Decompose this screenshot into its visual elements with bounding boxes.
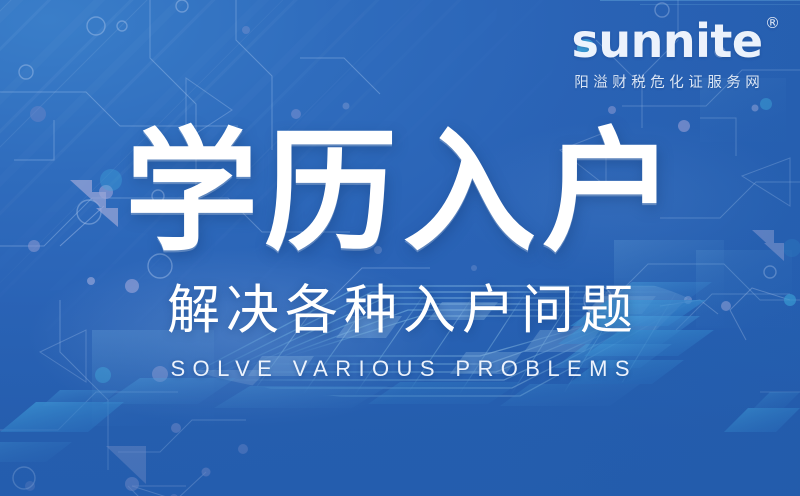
accent-triangle-bottom-left xyxy=(106,446,146,484)
registered-trademark-icon: ® xyxy=(765,16,780,31)
page-tagline: SOLVE VARIOUS PROBLEMS xyxy=(0,356,800,382)
brand-logo[interactable]: sunnite ® 阳溢财税危化证服务网 xyxy=(552,18,782,92)
promo-banner: sunnite ® 阳溢财税危化证服务网 学历入户 解决各种入户问题 SOLVE… xyxy=(0,0,800,496)
logo-wordmark: sunnite ® xyxy=(571,18,762,64)
page-title: 学历入户 xyxy=(0,126,800,262)
logo-wordmark-text: sunnite xyxy=(571,14,762,68)
page-subtitle: 解决各种入户问题 xyxy=(0,282,800,340)
logo-subtitle: 阳溢财税危化证服务网 xyxy=(552,71,782,92)
scanline-accents xyxy=(600,0,800,5)
headline-block: 学历入户 解决各种入户问题 SOLVE VARIOUS PROBLEMS xyxy=(0,126,800,382)
